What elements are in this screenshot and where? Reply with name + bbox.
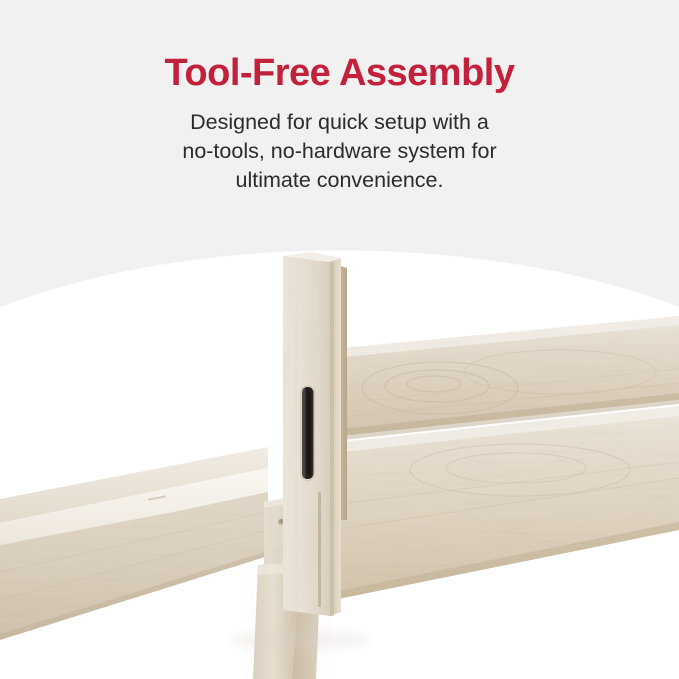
page-title: Tool-Free Assembly	[0, 50, 679, 96]
corner-post	[278, 250, 341, 625]
page-subtitle-line-1: Designed for quick setup with a	[90, 108, 589, 137]
page-subtitle: Designed for quick setup with a no-tools…	[90, 108, 589, 195]
contact-shadow	[230, 630, 370, 650]
product-photo	[0, 0, 679, 679]
page-subtitle-line-2: no-tools, no-hardware system for	[90, 137, 589, 166]
side-rail	[0, 447, 290, 660]
infographic-panel: Tool-Free Assembly Designed for quick se…	[0, 0, 679, 679]
product-photo-svg	[0, 0, 679, 679]
page-subtitle-line-3: ultimate convenience.	[90, 166, 589, 195]
locking-slot	[301, 386, 315, 481]
plate-post-shadow	[318, 492, 321, 607]
